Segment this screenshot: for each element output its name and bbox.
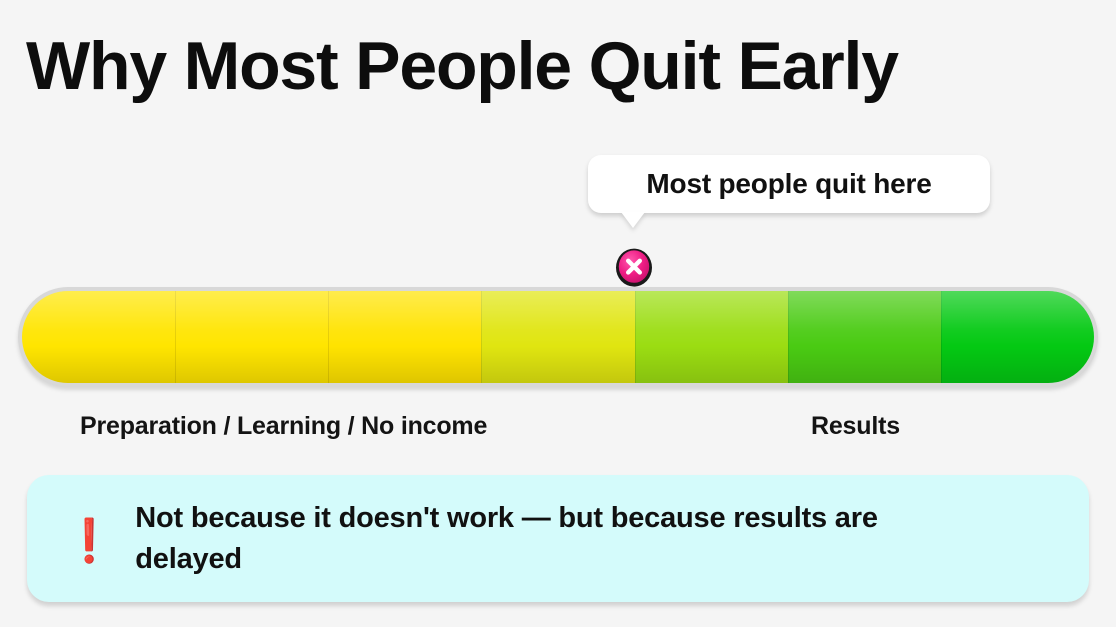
insight-callout: ❗ Not because it doesn't work — but beca… xyxy=(27,475,1089,602)
progress-segment-5 xyxy=(635,291,788,383)
exclamation-mark-icon: ❗ xyxy=(63,520,115,562)
progress-segment-1 xyxy=(22,291,175,383)
progress-segment-4 xyxy=(481,291,634,383)
quit-marker-circle-x-icon xyxy=(612,245,656,289)
page-title: Why Most People Quit Early xyxy=(26,24,1086,108)
progress-segment-7 xyxy=(941,291,1094,383)
progress-segment-2 xyxy=(175,291,328,383)
stage-label-preparation: Preparation / Learning / No income xyxy=(80,412,487,441)
progress-segment-3 xyxy=(328,291,481,383)
progress-bar-segments xyxy=(22,291,1094,383)
stage-label-results: Results xyxy=(811,412,900,441)
insight-callout-text: Not because it doesn't work — but becaus… xyxy=(135,498,965,580)
quit-tooltip: Most people quit here xyxy=(588,155,990,213)
quit-tooltip-tail xyxy=(621,212,645,228)
quit-tooltip-label: Most people quit here xyxy=(588,155,990,213)
progress-segment-6 xyxy=(788,291,941,383)
